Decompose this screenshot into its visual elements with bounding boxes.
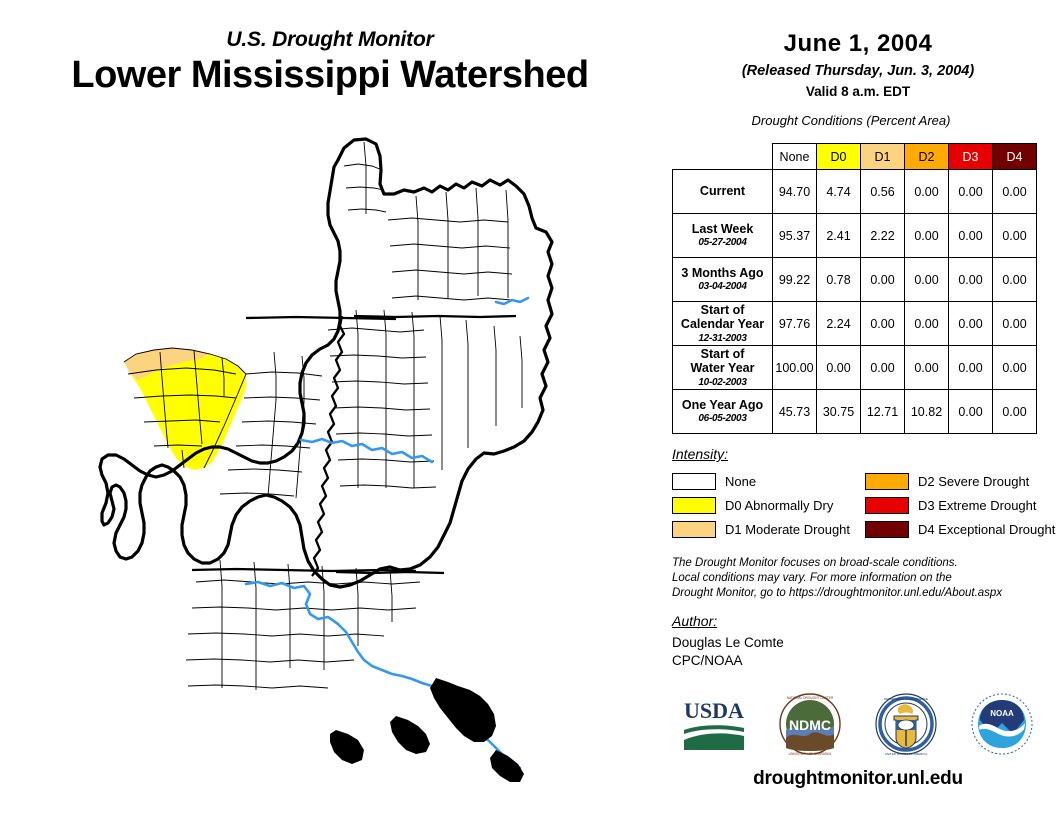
row-label-date: 12-31-2003 bbox=[673, 333, 772, 345]
page-title: Lower Mississippi Watershed bbox=[0, 54, 660, 98]
cell-d1: 0.00 bbox=[861, 258, 905, 302]
usdc-seal[interactable]: DEPARTMENT OF COMMERCE UNITED STATES OF … bbox=[870, 690, 942, 758]
column-header-none: None bbox=[773, 144, 817, 170]
table-row: Current94.704.740.560.000.000.00 bbox=[673, 170, 1037, 214]
row-label-line: Start of bbox=[701, 347, 745, 361]
map-supertitle: U.S. Drought Monitor bbox=[0, 28, 660, 51]
disclaimer-line-1: The Drought Monitor focuses on broad-sca… bbox=[672, 556, 1052, 571]
map-title-block: U.S. Drought Monitor Lower Mississippi W… bbox=[0, 28, 660, 98]
legend-swatch-d0 bbox=[672, 497, 716, 514]
release-date: (Released Thursday, Jun. 3, 2004) bbox=[660, 63, 1056, 79]
intensity-heading: Intensity: bbox=[672, 446, 1056, 462]
cell-d4: 0.00 bbox=[993, 214, 1037, 258]
legend-swatch-d3 bbox=[865, 497, 909, 514]
drought-monitor-page: U.S. Drought Monitor Lower Mississippi W… bbox=[0, 0, 1056, 816]
cell-none: 99.22 bbox=[773, 258, 817, 302]
table-row: Last Week05-27-200495.372.412.220.000.00… bbox=[673, 214, 1037, 258]
cell-none: 45.73 bbox=[773, 390, 817, 434]
report-date: June 1, 2004 bbox=[660, 30, 1056, 58]
cell-d3: 0.00 bbox=[949, 302, 993, 346]
valid-time: Valid 8 a.m. EDT bbox=[660, 84, 1056, 99]
row-label-line: Current bbox=[700, 184, 745, 198]
cell-d1: 2.22 bbox=[861, 214, 905, 258]
cell-d3: 0.00 bbox=[949, 390, 993, 434]
table-row: Start ofWater Year10-02-2003100.000.000.… bbox=[673, 346, 1037, 390]
table-header-row: None D0 D1 D2 D3 D4 bbox=[673, 144, 1037, 170]
legend-swatch-d1 bbox=[672, 521, 716, 538]
row-label: Last Week05-27-2004 bbox=[673, 214, 773, 258]
cell-d1: 0.00 bbox=[861, 302, 905, 346]
cell-d2: 0.00 bbox=[905, 214, 949, 258]
row-label-date: 10-02-2003 bbox=[673, 377, 772, 389]
disclaimer-line-2: Local conditions may vary. For more info… bbox=[672, 571, 1052, 586]
row-label-line: Last Week bbox=[692, 222, 754, 236]
header-corner-blank bbox=[673, 144, 773, 170]
cell-d4: 0.00 bbox=[993, 390, 1037, 434]
author-section: Author: Douglas Le Comte CPC/NOAA bbox=[672, 613, 1052, 670]
cell-d0: 2.41 bbox=[817, 214, 861, 258]
column-header-d0: D0 bbox=[817, 144, 861, 170]
row-label-line: One Year Ago bbox=[682, 398, 763, 412]
legend-item-d0: D0 Abnormally Dry bbox=[672, 493, 865, 517]
cell-d4: 0.00 bbox=[993, 302, 1037, 346]
row-label-line: Water Year bbox=[691, 361, 755, 375]
usda-logo-text: USDA bbox=[684, 698, 744, 723]
legend-swatch-none bbox=[672, 473, 716, 490]
legend-swatch-d4 bbox=[865, 521, 909, 538]
noaa-logo[interactable]: NOAA bbox=[966, 690, 1038, 758]
legend-label-d1: D1 Moderate Drought bbox=[725, 522, 850, 537]
author-name: Douglas Le Comte bbox=[672, 634, 1052, 652]
cell-d2: 0.00 bbox=[905, 170, 949, 214]
legend-swatch-d2 bbox=[865, 473, 909, 490]
row-label-date: 05-27-2004 bbox=[673, 237, 772, 249]
row-label-line: Calendar Year bbox=[681, 317, 764, 331]
ndmc-ring-text-top: NATIONAL DROUGHT CENTER bbox=[787, 696, 834, 700]
legend-label-d2: D2 Severe Drought bbox=[918, 474, 1029, 489]
row-label-line: Start of bbox=[701, 303, 745, 317]
usdc-ring-text-top: DEPARTMENT OF COMMERCE bbox=[884, 697, 928, 701]
legend-item-d3: D3 Extreme Drought bbox=[865, 493, 1056, 517]
author-heading: Author: bbox=[672, 613, 1052, 629]
column-header-d3: D3 bbox=[949, 144, 993, 170]
cell-d1: 0.00 bbox=[861, 346, 905, 390]
map-panel: U.S. Drought Monitor Lower Mississippi W… bbox=[0, 0, 660, 816]
cell-none: 100.00 bbox=[773, 346, 817, 390]
watershed-map[interactable] bbox=[96, 130, 566, 800]
legend-item-d1: D1 Moderate Drought bbox=[672, 517, 865, 541]
cell-none: 97.76 bbox=[773, 302, 817, 346]
ndmc-logo[interactable]: NDMC NATIONAL DROUGHT CENTER UNIVERSITY … bbox=[774, 690, 846, 758]
cell-d0: 30.75 bbox=[817, 390, 861, 434]
noaa-logo-text: NOAA bbox=[990, 709, 1014, 718]
table-row: One Year Ago06-05-200345.7330.7512.7110.… bbox=[673, 390, 1037, 434]
row-label-date: 06-05-2003 bbox=[673, 413, 772, 425]
cell-d0: 4.74 bbox=[817, 170, 861, 214]
drought-conditions-table: None D0 D1 D2 D3 D4 Current94.704.740.56… bbox=[672, 143, 1037, 434]
disclaimer-line-3: Drought Monitor, go to https://droughtmo… bbox=[672, 586, 1052, 601]
usda-logo[interactable]: USDA bbox=[678, 690, 750, 758]
table-body: Current94.704.740.560.000.000.00Last Wee… bbox=[673, 170, 1037, 434]
cell-d3: 0.00 bbox=[949, 170, 993, 214]
gulf-coast-marsh bbox=[330, 678, 524, 782]
cell-d1: 0.56 bbox=[861, 170, 905, 214]
ndmc-logo-text: NDMC bbox=[789, 717, 831, 733]
usdc-ring-text-bottom: UNITED STATES OF AMERICA bbox=[885, 752, 928, 756]
legend-label-none: None bbox=[725, 474, 756, 489]
row-label-date: 03-04-2004 bbox=[673, 281, 772, 293]
legend-item-none: None bbox=[672, 469, 865, 493]
cell-d2: 10.82 bbox=[905, 390, 949, 434]
legend-label-d3: D3 Extreme Drought bbox=[918, 498, 1037, 513]
legend-item-d2: D2 Severe Drought bbox=[865, 469, 1056, 493]
cell-d3: 0.00 bbox=[949, 346, 993, 390]
watershed-map-svg[interactable] bbox=[96, 130, 566, 800]
cell-d0: 0.78 bbox=[817, 258, 861, 302]
legend-label-d4: D4 Exceptional Drought bbox=[918, 522, 1055, 537]
cell-d4: 0.00 bbox=[993, 170, 1037, 214]
logos-row: USDA NDMC NATIONAL DROUGHT CENTER UNIVER… bbox=[660, 690, 1056, 758]
cell-d3: 0.00 bbox=[949, 258, 993, 302]
intensity-legend: Intensity: None D2 Severe Drought D0 Abn… bbox=[672, 446, 1056, 541]
cell-d3: 0.00 bbox=[949, 214, 993, 258]
table-row: 3 Months Ago03-04-200499.220.780.000.000… bbox=[673, 258, 1037, 302]
date-block: June 1, 2004 (Released Thursday, Jun. 3,… bbox=[660, 0, 1056, 99]
cell-none: 94.70 bbox=[773, 170, 817, 214]
author-affiliation: CPC/NOAA bbox=[672, 652, 1052, 670]
table-row: Start ofCalendar Year12-31-200397.762.24… bbox=[673, 302, 1037, 346]
row-label: Start ofWater Year10-02-2003 bbox=[673, 346, 773, 390]
cell-d4: 0.00 bbox=[993, 346, 1037, 390]
row-label: 3 Months Ago03-04-2004 bbox=[673, 258, 773, 302]
cell-d0: 2.24 bbox=[817, 302, 861, 346]
row-label: Start ofCalendar Year12-31-2003 bbox=[673, 302, 773, 346]
row-label-line: 3 Months Ago bbox=[681, 266, 763, 280]
column-header-d2: D2 bbox=[905, 144, 949, 170]
cell-d2: 0.00 bbox=[905, 258, 949, 302]
row-label: One Year Ago06-05-2003 bbox=[673, 390, 773, 434]
cell-d4: 0.00 bbox=[993, 258, 1037, 302]
legend-grid: None D2 Severe Drought D0 Abnormally Dry… bbox=[672, 469, 1056, 541]
legend-label-d0: D0 Abnormally Dry bbox=[725, 498, 833, 513]
site-url[interactable]: droughtmonitor.unl.edu bbox=[660, 768, 1056, 790]
table-caption: Drought Conditions (Percent Area) bbox=[660, 113, 1056, 128]
cell-d1: 12.71 bbox=[861, 390, 905, 434]
info-panel: June 1, 2004 (Released Thursday, Jun. 3,… bbox=[660, 0, 1056, 816]
row-label: Current bbox=[673, 170, 773, 214]
cell-d2: 0.00 bbox=[905, 302, 949, 346]
ndmc-ring-text-bottom: UNIVERSITY OF NEBRASKA bbox=[789, 752, 833, 756]
cell-d2: 0.00 bbox=[905, 346, 949, 390]
disclaimer-text: The Drought Monitor focuses on broad-sca… bbox=[672, 556, 1052, 602]
cell-d0: 0.00 bbox=[817, 346, 861, 390]
column-header-d1: D1 bbox=[861, 144, 905, 170]
cell-none: 95.37 bbox=[773, 214, 817, 258]
legend-item-d4: D4 Exceptional Drought bbox=[865, 517, 1056, 541]
column-header-d4: D4 bbox=[993, 144, 1037, 170]
